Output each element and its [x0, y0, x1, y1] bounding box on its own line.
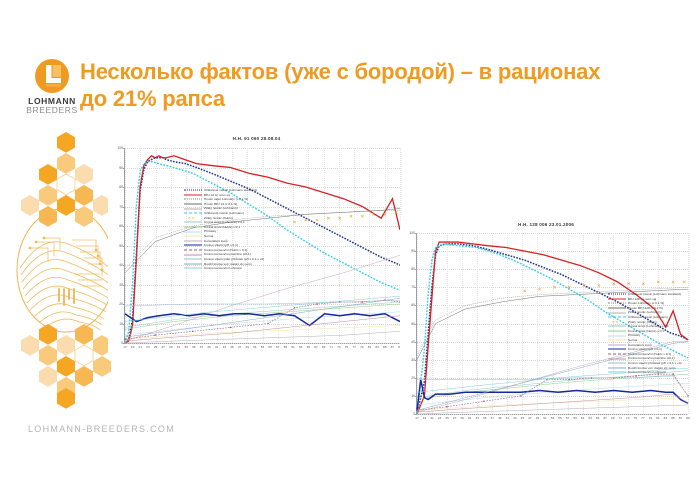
x-axis-tick-label: 29 [460, 416, 463, 420]
x-axis-tick-label: 37 [200, 345, 203, 349]
legend-swatch-icon [608, 324, 626, 328]
series-marker [192, 331, 193, 332]
series-marker [568, 286, 570, 288]
x-axis-tick-label: 45 [521, 416, 524, 420]
x-axis-tick-label: 61 [581, 416, 584, 420]
legend-swatch-icon [608, 315, 626, 319]
legend-swatch-icon: ✕ ✕ [608, 320, 626, 324]
legend-swatch-icon [608, 306, 626, 310]
x-axis-tick-label: 35 [192, 345, 195, 349]
series-line [125, 325, 400, 339]
legend-swatch-icon [184, 211, 202, 215]
chart-right-title: Н.Н. 128 006 23.01.2006 [400, 222, 692, 227]
series-line [417, 405, 688, 414]
series-line [125, 314, 400, 326]
x-axis-tick-label: 19 [423, 416, 426, 420]
x-axis-tick-label: 71 [619, 416, 622, 420]
x-axis-tick-label: 73 [337, 345, 340, 349]
x-axis-tick-label: 59 [573, 416, 576, 420]
x-axis-tick-label: 25 [154, 345, 157, 349]
legend-swatch-icon [608, 338, 626, 342]
x-axis-tick-label: 81 [368, 345, 371, 349]
x-axis-tick-label: 85 [383, 345, 386, 349]
legend-label: Krmivo konvenční Lohmann [204, 266, 242, 271]
x-axis-tick-label: 79 [649, 416, 652, 420]
x-axis-tick-label: 33 [184, 345, 187, 349]
legend-swatch-icon [184, 193, 202, 197]
page-title-line2: до 21% рапса [80, 85, 680, 112]
series-marker [124, 338, 125, 339]
legend-swatch-icon [184, 207, 202, 211]
x-axis-tick-label: 51 [543, 416, 546, 420]
legend-swatch-icon [184, 239, 202, 243]
x-axis-tick-label: 29 [169, 345, 172, 349]
x-axis-tick-label: 47 [238, 345, 241, 349]
x-axis-tick-label: 55 [268, 345, 271, 349]
legend-label: Krmivo konvenční Lohmann [628, 370, 666, 375]
series-marker [327, 217, 329, 219]
legend-swatch-icon [608, 347, 626, 351]
x-axis-tick-label: 65 [596, 416, 599, 420]
x-axis-tick-label: 63 [588, 416, 591, 420]
x-axis-tick-label: 49 [536, 416, 539, 420]
x-axis-tick-label: 25 [445, 416, 448, 420]
series-marker [657, 281, 659, 283]
x-axis-tick-label: 65 [307, 345, 310, 349]
x-axis-tick-label: 49 [245, 345, 248, 349]
x-axis-tick-label: 41 [215, 345, 218, 349]
x-axis-tick-label: 59 [284, 345, 287, 349]
legend-swatch-icon [184, 234, 202, 238]
legend-swatch-icon: ✕ ✕ [184, 216, 202, 220]
legend-item: Krmivo konvenční Lohmann [184, 266, 302, 271]
footer-url: LOHMANN-BREEDERS.COM [28, 424, 175, 434]
x-axis-tick-label: 31 [468, 416, 471, 420]
x-axis-tick-label: 47 [528, 416, 531, 420]
x-axis-tick-label: 39 [207, 345, 210, 349]
x-axis-tick-label: 45 [230, 345, 233, 349]
series-marker [305, 219, 307, 221]
x-axis-tick-label: 37 [491, 416, 494, 420]
chart-right: Н.Н. 128 006 23.01.2006 0102030405060708… [400, 222, 692, 430]
legend-swatch-icon [184, 262, 202, 266]
x-axis-tick-label: 79 [360, 345, 363, 349]
series-marker [230, 327, 231, 328]
series-marker [613, 282, 615, 284]
legend-swatch-icon [608, 366, 626, 370]
slide-root: LOHMANN BREEDERS Несколько фактов (уже с… [0, 0, 700, 495]
x-axis-tick-label: 83 [664, 416, 667, 420]
x-axis-tick-label: 43 [223, 345, 226, 349]
series-line [417, 380, 688, 411]
x-axis-tick-label: 69 [611, 416, 614, 420]
x-axis-tick-label: 55 [558, 416, 561, 420]
series-marker [683, 281, 685, 283]
x-axis-tick-label: 89 [686, 416, 689, 420]
series-line [125, 296, 400, 321]
legend-swatch-icon [184, 197, 202, 201]
x-axis-tick-label: 71 [330, 345, 333, 349]
legend-swatch-icon [608, 329, 626, 333]
legend-swatch-icon [184, 257, 202, 261]
x-axis-tick-label: 35 [483, 416, 486, 420]
legend-swatch-icon [184, 202, 202, 206]
page-title: Несколько фактов (уже с бородой) – в рац… [80, 58, 680, 112]
x-axis-tick-label: 57 [566, 416, 569, 420]
x-axis-tick-label: 21 [430, 416, 433, 420]
legend-swatch-icon [608, 370, 626, 374]
series-marker [553, 286, 555, 288]
x-axis-tick-label: 63 [299, 345, 302, 349]
x-axis-tick-label: 23 [438, 416, 441, 420]
x-axis-tick-label: 61 [291, 345, 294, 349]
legend-swatch-icon [608, 352, 626, 356]
chart-right-legend: Užitkovost nosnic (Lohmann standard)BPJ … [608, 292, 696, 375]
series-marker [154, 335, 155, 336]
legend-swatch-icon [184, 253, 202, 257]
x-axis-tick-label: 87 [679, 416, 682, 420]
series-marker [483, 401, 484, 402]
x-axis-tick-label: 39 [498, 416, 501, 420]
series-marker [339, 217, 341, 219]
series-marker [672, 281, 674, 283]
chart-left-title: Н.Н. 91 060 28.08.04 [108, 136, 405, 141]
x-axis-tick-label: 53 [261, 345, 264, 349]
series-marker [642, 282, 644, 284]
x-axis-tick-label: 33 [475, 416, 478, 420]
x-axis-tick-label: 75 [345, 345, 348, 349]
logo-wordmark-secondary: BREEDERS [22, 105, 82, 115]
x-axis-tick-label: 21 [139, 345, 142, 349]
legend-swatch-icon [608, 334, 626, 338]
legend-swatch-icon [608, 297, 626, 301]
x-axis-tick-label: 17 [123, 345, 126, 349]
lohmann-circle-l-icon [34, 58, 70, 94]
x-axis-tick-label: 51 [253, 345, 256, 349]
page-title-line1: Несколько фактов (уже с бородой) – в рац… [80, 58, 680, 85]
chart-left-legend: Užitkovost nosnic (Lohmann standard)BPJ … [184, 188, 302, 271]
series-marker [267, 323, 268, 324]
legend-swatch-icon [184, 248, 202, 252]
chart-left: Н.Н. 91 060 28.08.04 0102030405060708090… [108, 136, 405, 358]
series-line [125, 331, 400, 343]
x-axis-tick-label: 53 [551, 416, 554, 420]
series-marker [627, 282, 629, 284]
series-marker [523, 290, 525, 292]
x-axis-tick-label: 27 [453, 416, 456, 420]
series-marker [446, 406, 447, 407]
series-line [125, 316, 400, 341]
legend-swatch-icon [184, 220, 202, 224]
brand-logo: LOHMANN BREEDERS [22, 58, 82, 120]
series-marker [316, 303, 317, 304]
x-axis-tick-label: 75 [634, 416, 637, 420]
series-line [417, 374, 688, 399]
series-marker [294, 307, 295, 308]
legend-item: Krmivo konvenční Lohmann [608, 370, 696, 375]
legend-swatch-icon [184, 225, 202, 229]
legend-swatch-icon [608, 301, 626, 305]
x-axis-tick-label: 17 [415, 416, 418, 420]
series-marker [316, 219, 318, 221]
x-axis-tick-label: 43 [513, 416, 516, 420]
legend-swatch-icon [608, 361, 626, 365]
x-axis-tick-label: 41 [506, 416, 509, 420]
x-axis-tick-label: 31 [177, 345, 180, 349]
series-line [125, 300, 400, 339]
x-axis-tick-label: 87 [391, 345, 394, 349]
x-axis-tick-label: 67 [314, 345, 317, 349]
x-axis-tick-label: 77 [641, 416, 644, 420]
x-axis-tick-label: 27 [161, 345, 164, 349]
legend-swatch-icon [184, 188, 202, 192]
series-marker [361, 215, 363, 217]
legend-swatch-icon [608, 311, 626, 315]
honeycomb-circuit-graphic [14, 128, 118, 413]
legend-swatch-icon [608, 343, 626, 347]
series-marker [598, 284, 600, 286]
x-axis-tick-label: 73 [626, 416, 629, 420]
x-axis-tick-label: 23 [146, 345, 149, 349]
legend-swatch-icon [608, 292, 626, 296]
x-axis-tick-label: 77 [352, 345, 355, 349]
series-marker [569, 379, 570, 380]
x-axis-tick-label: 67 [603, 416, 606, 420]
x-axis-tick-label: 83 [375, 345, 378, 349]
x-axis-tick-label: 19 [131, 345, 134, 349]
series-marker [635, 375, 636, 376]
legend-swatch-icon [184, 266, 202, 270]
legend-swatch-icon [608, 357, 626, 361]
x-axis-tick-label: 69 [322, 345, 325, 349]
x-axis-tick-label: 85 [671, 416, 674, 420]
series-marker [520, 395, 521, 396]
series-marker [350, 215, 352, 217]
legend-swatch-icon [184, 243, 202, 247]
series-marker [538, 288, 540, 290]
x-axis-tick-label: 57 [276, 345, 279, 349]
legend-swatch-icon [184, 230, 202, 234]
x-axis-tick-label: 81 [656, 416, 659, 420]
